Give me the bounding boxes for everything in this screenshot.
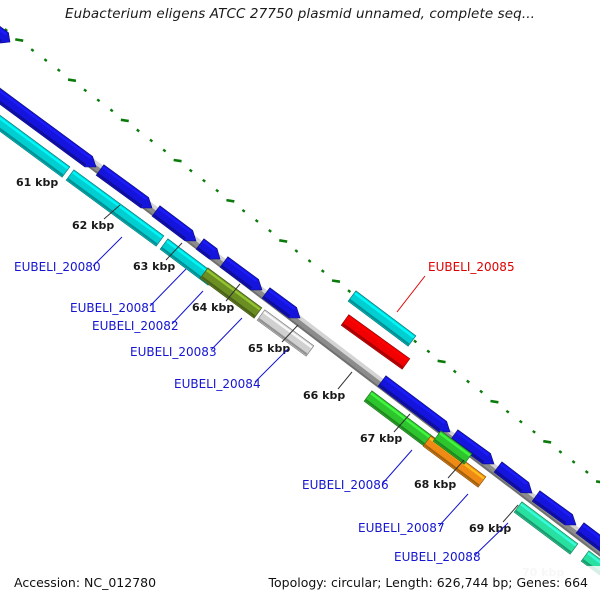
gene-label-text[interactable]: EUBELI_20088 bbox=[394, 550, 481, 564]
tick-66kbp: 66 kbp bbox=[303, 372, 352, 402]
marker-dot bbox=[163, 150, 165, 152]
ruler-tick-label: 67 kbp bbox=[360, 432, 402, 445]
sequence-backbone[interactable] bbox=[0, 74, 600, 569]
gene-label-eubeli-20087[interactable]: EUBELI_20087 bbox=[358, 494, 468, 535]
genome-map-canvas[interactable]: 61 kbp62 kbp63 kbp64 kbp65 kbp66 kbp67 k… bbox=[0, 0, 600, 600]
gene-label-text[interactable]: EUBELI_20087 bbox=[358, 521, 445, 535]
marker-dot bbox=[480, 391, 482, 393]
gene-label-text[interactable]: EUBELI_20083 bbox=[130, 345, 217, 359]
ruler-tick-label: 63 kbp bbox=[133, 260, 175, 273]
gene-label-text[interactable]: EUBELI_20086 bbox=[302, 478, 389, 492]
gene-label-text[interactable]: EUBELI_20082 bbox=[92, 319, 179, 333]
marker-dot bbox=[332, 277, 340, 284]
marker-dot bbox=[490, 398, 498, 405]
marker-dot bbox=[15, 36, 23, 43]
marker-dot bbox=[506, 411, 508, 413]
marker-dot bbox=[256, 220, 258, 222]
marker-dot bbox=[97, 99, 99, 101]
tick-61kbp: 61 kbp bbox=[16, 176, 58, 189]
ruler-tick-label: 69 kbp bbox=[469, 522, 511, 535]
gene-label-eubeli-20081[interactable]: EUBELI_20081 bbox=[70, 269, 186, 315]
feature-highlight bbox=[0, 82, 91, 159]
marker-dot bbox=[454, 371, 456, 373]
marker-dot bbox=[137, 130, 139, 132]
marker-dot bbox=[596, 478, 600, 485]
genome-map-svg[interactable]: 61 kbp62 kbp63 kbp64 kbp65 kbp66 kbp67 k… bbox=[0, 0, 600, 600]
marker-dot bbox=[121, 117, 129, 124]
gene-label-eubeli-20080[interactable]: EUBELI_20080 bbox=[14, 237, 122, 274]
status-bar: Accession: NC_012780 Topology: circular;… bbox=[0, 566, 600, 600]
feature-body[interactable] bbox=[0, 25, 14, 47]
gene-label-eubeli-20086[interactable]: EUBELI_20086 bbox=[302, 450, 412, 492]
marker-dot bbox=[150, 140, 152, 142]
marker-dot-track bbox=[5, 29, 600, 486]
backbone-core[interactable] bbox=[0, 77, 600, 568]
marker-dot bbox=[308, 260, 310, 262]
marker-dot bbox=[174, 157, 182, 164]
marker-dot bbox=[559, 451, 561, 453]
marker-dot bbox=[295, 250, 297, 252]
marker-dot bbox=[58, 69, 60, 71]
marker-dot bbox=[467, 381, 469, 383]
gene-label-layer[interactable]: EUBELI_20080EUBELI_20081EUBELI_20082EUBE… bbox=[14, 237, 515, 564]
gene-label-text[interactable]: EUBELI_20084 bbox=[174, 377, 261, 391]
ruler-tick-label: 66 kbp bbox=[303, 389, 345, 402]
marker-dot bbox=[322, 270, 324, 272]
gene-label-text[interactable]: EUBELI_20081 bbox=[70, 301, 157, 315]
marker-dot bbox=[427, 351, 429, 353]
sequence-summary-label: Topology: circular; Length: 626,744 bp; … bbox=[269, 575, 589, 590]
marker-dot bbox=[269, 230, 271, 232]
ruler-tick-label: 64 kbp bbox=[192, 301, 234, 314]
marker-dot bbox=[216, 190, 218, 192]
marker-dot bbox=[203, 180, 205, 182]
marker-dot bbox=[572, 461, 574, 463]
gene-label-text[interactable]: EUBELI_20085 bbox=[428, 260, 515, 274]
marker-dot bbox=[414, 341, 416, 343]
marker-dot bbox=[438, 358, 446, 365]
marker-dot bbox=[31, 49, 33, 51]
ruler-tick-layer: 61 kbp62 kbp63 kbp64 kbp65 kbp66 kbp67 k… bbox=[16, 176, 564, 579]
backbone-highlight-edge[interactable] bbox=[0, 74, 600, 565]
feature-blue-edge-top[interactable] bbox=[0, 25, 14, 47]
marker-dot bbox=[190, 170, 192, 172]
marker-dot bbox=[520, 421, 522, 423]
marker-dot bbox=[543, 438, 551, 445]
marker-dot bbox=[533, 431, 535, 433]
genome-map-viewer: Eubacterium eligens ATCC 27750 plasmid u… bbox=[0, 0, 600, 600]
marker-dot bbox=[348, 290, 350, 292]
marker-dot bbox=[110, 109, 112, 111]
marker-dot bbox=[242, 210, 244, 212]
gene-label-leader bbox=[397, 276, 425, 312]
gene-label-eubeli-20085[interactable]: EUBELI_20085 bbox=[397, 260, 515, 312]
ruler-tick-label: 61 kbp bbox=[16, 176, 58, 189]
accession-label: Accession: NC_012780 bbox=[14, 575, 156, 590]
tick-69kbp: 69 kbp bbox=[469, 505, 518, 535]
marker-dot bbox=[226, 197, 234, 204]
ruler-tick-label: 62 kbp bbox=[72, 219, 114, 232]
marker-dot bbox=[68, 77, 76, 84]
marker-dot bbox=[586, 471, 588, 473]
marker-dot bbox=[279, 237, 287, 244]
marker-dot bbox=[84, 89, 86, 91]
marker-dot bbox=[44, 59, 46, 61]
ruler-tick-leader bbox=[338, 372, 352, 389]
gene-label-text[interactable]: EUBELI_20080 bbox=[14, 260, 101, 274]
ruler-tick-label: 68 kbp bbox=[414, 478, 456, 491]
